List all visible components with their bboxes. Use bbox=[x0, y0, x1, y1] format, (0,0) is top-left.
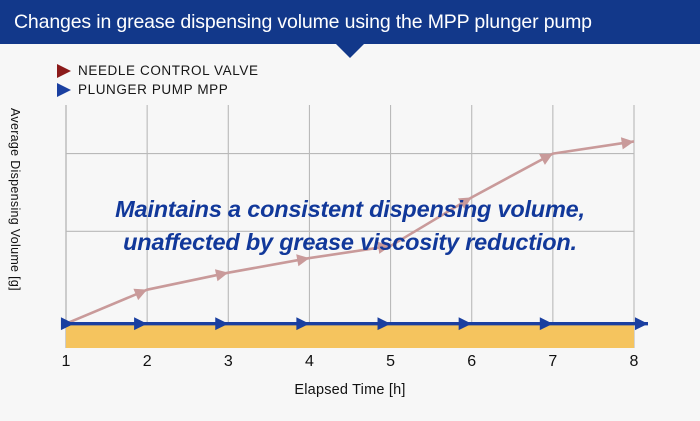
chart-svg bbox=[0, 0, 700, 421]
data-point-marker-mpp bbox=[635, 317, 648, 330]
x-tick-label: 7 bbox=[548, 353, 557, 371]
x-tick-label: 3 bbox=[224, 353, 233, 371]
x-tick-label: 2 bbox=[143, 353, 152, 371]
data-point-marker-ncv bbox=[458, 192, 475, 209]
plot-area bbox=[0, 0, 700, 421]
x-tick-label: 5 bbox=[386, 353, 395, 371]
chart-page: Changes in grease dispensing volume usin… bbox=[0, 0, 700, 421]
x-tick-label: 4 bbox=[305, 353, 314, 371]
series-line-needle-control-valve bbox=[66, 141, 634, 323]
mpp-area-fill bbox=[66, 324, 634, 348]
x-tick-label: 6 bbox=[467, 353, 476, 371]
x-tick-label: 8 bbox=[630, 353, 639, 371]
x-tick-label: 1 bbox=[62, 353, 71, 371]
